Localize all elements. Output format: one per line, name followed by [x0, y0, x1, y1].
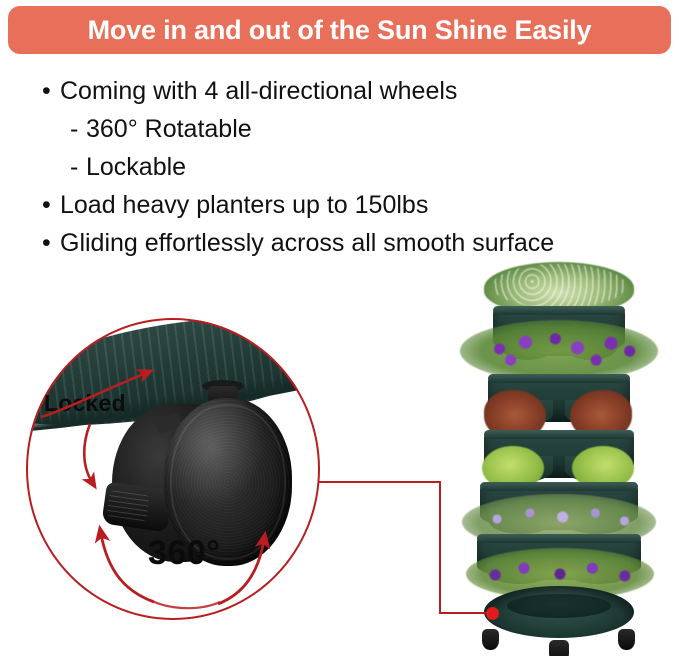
tier-rim — [488, 374, 630, 383]
tray-caster-front — [549, 640, 569, 656]
dash-icon: - — [70, 148, 86, 186]
list-item: - Lockable — [42, 148, 672, 186]
tier-rim — [493, 306, 625, 315]
page-title: Move in and out of the Sun Shine Easily — [88, 15, 592, 46]
planter-tower-image — [452, 262, 666, 656]
degrees-label: 360° — [148, 534, 220, 573]
callout-circle-outline — [26, 318, 320, 620]
list-item-label: Gliding effortlessly across all smooth s… — [60, 224, 554, 262]
foliage-petunia-blooms — [466, 322, 652, 378]
bullet-icon: • — [42, 72, 60, 110]
tier-rim — [477, 534, 641, 543]
tray-caster-right — [618, 629, 635, 650]
foliage-white-alyssum-speckle — [492, 264, 626, 308]
feature-list: • Coming with 4 all-directional wheels -… — [42, 72, 672, 262]
list-item-label: 360° Rotatable — [86, 110, 252, 148]
planter-base-tray — [484, 586, 634, 638]
base-tray-inner — [507, 594, 611, 618]
bullet-icon: • — [42, 186, 60, 224]
dash-icon: - — [70, 110, 86, 148]
list-item: • Load heavy planters up to 150lbs — [42, 186, 672, 224]
list-item-label: Load heavy planters up to 150lbs — [60, 186, 428, 224]
tier-rim — [480, 482, 638, 491]
header-banner: Move in and out of the Sun Shine Easily — [8, 6, 671, 54]
list-item: • Coming with 4 all-directional wheels — [42, 72, 672, 110]
tray-caster-left — [482, 629, 499, 650]
locked-label: Locked — [44, 390, 126, 417]
connector-marker-dot — [486, 607, 499, 620]
list-item: - 360° Rotatable — [42, 110, 672, 148]
list-item: • Gliding effortlessly across all smooth… — [42, 224, 672, 262]
tier-rim — [484, 430, 634, 439]
list-item-label: Coming with 4 all-directional wheels — [60, 72, 457, 110]
infographic-page: Move in and out of the Sun Shine Easily … — [0, 0, 679, 656]
bullet-icon: • — [42, 224, 60, 262]
list-item-label: Lockable — [86, 148, 186, 186]
